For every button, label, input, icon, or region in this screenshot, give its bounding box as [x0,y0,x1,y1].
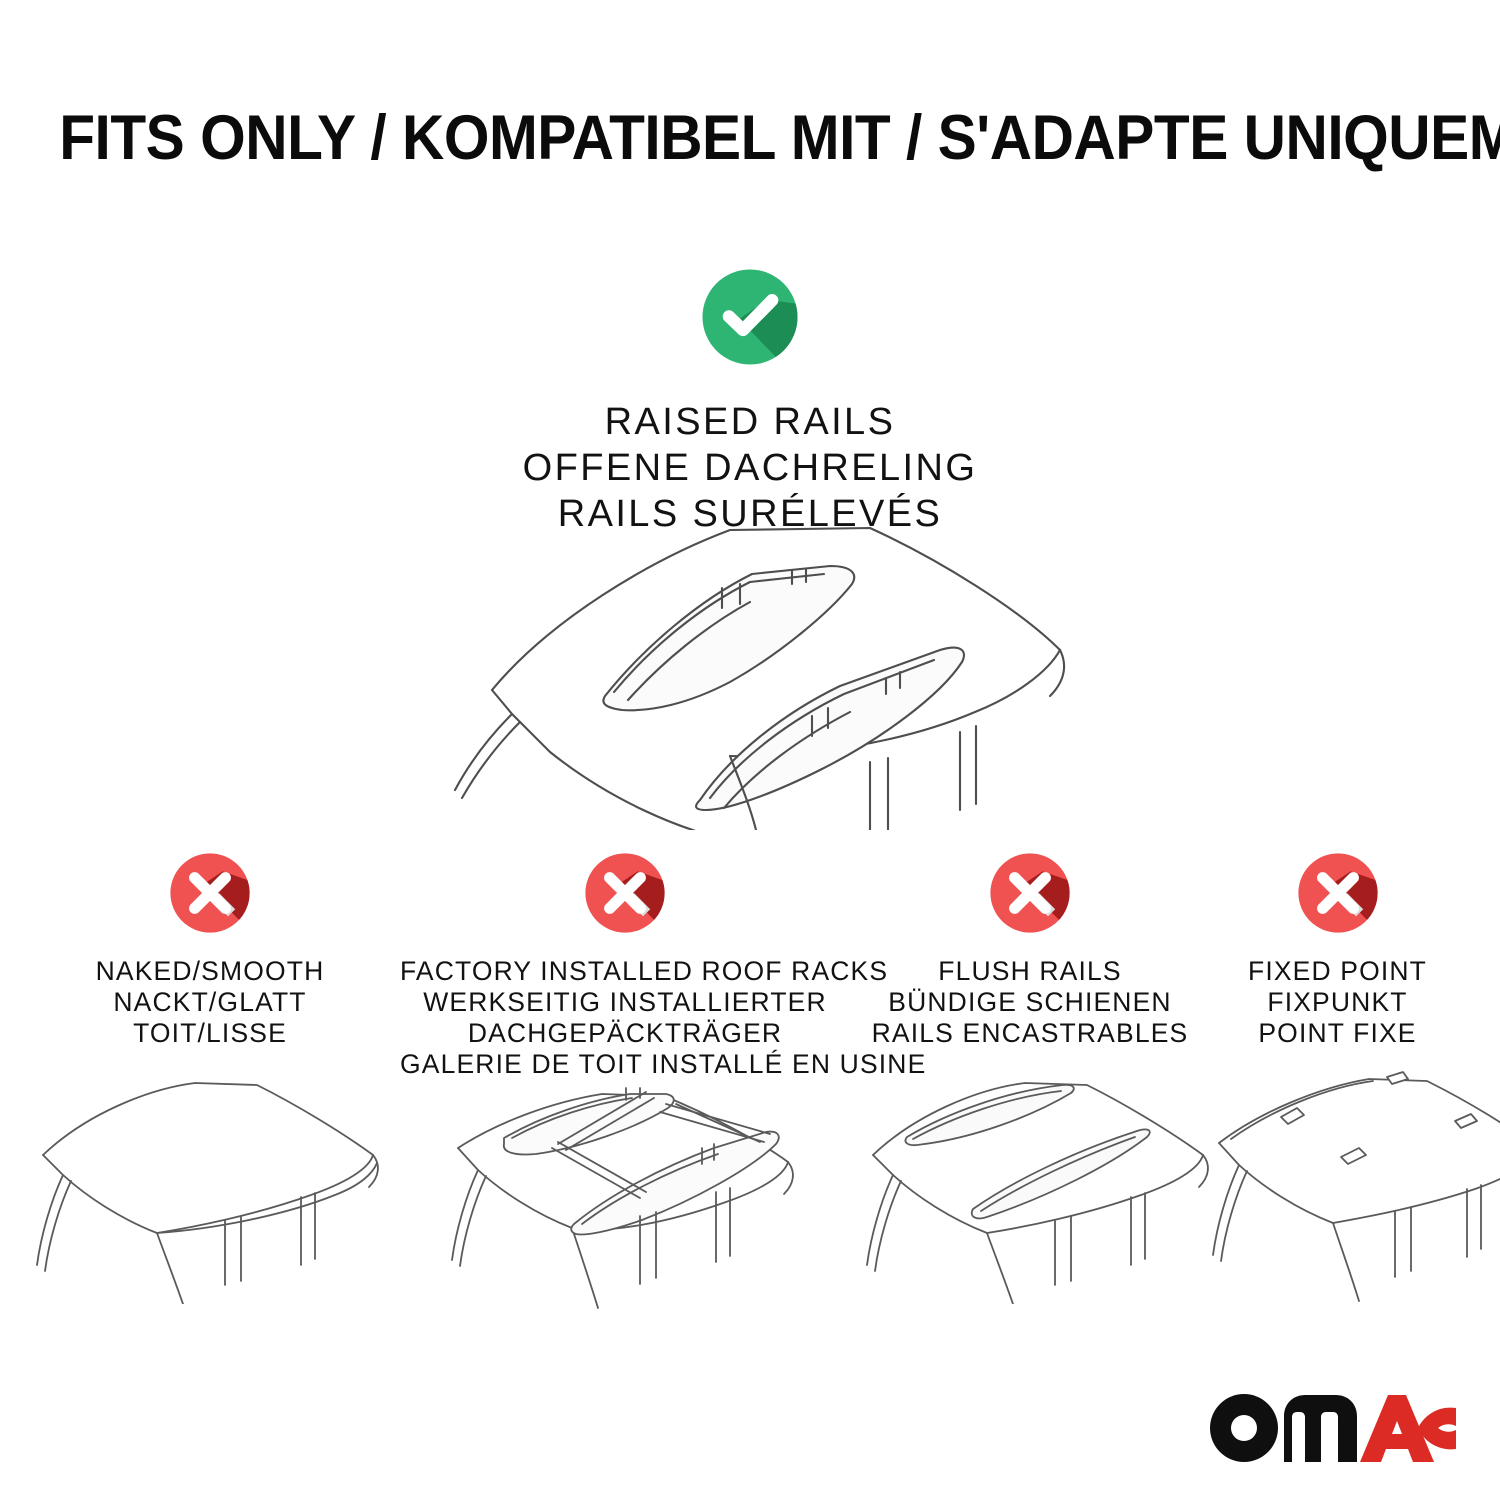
car-roof-factory-roof-racks-illustration [440,1086,810,1336]
label-fr: TOIT/LISSE [20,1018,400,1049]
label-en: FIXED POINT [1205,956,1470,987]
cross-circle-icon [1293,848,1383,938]
incompatible-column-naked-smooth: NAKED/SMOOTH NACKT/GLATT TOIT/LISSE [20,848,400,1304]
incompatible-column-factory-roof-racks: FACTORY INSTALLED ROOF RACKS WERKSEITIG … [400,848,850,1336]
incompatible-sections: NAKED/SMOOTH NACKT/GLATT TOIT/LISSE [0,848,1500,1318]
car-roof-raised-rails-illustration [400,500,1100,830]
label-en: FLUSH RAILS [855,956,1205,987]
omac-logo [1210,1392,1456,1464]
compatible-section: RAISED RAILS OFFENE DACHRELING RAILS SUR… [0,263,1500,537]
cross-circle-icon [985,848,1075,938]
label-de: FIXPUNKT [1205,987,1470,1018]
compatible-label-de: OFFENE DACHRELING [0,445,1500,491]
check-circle-icon [696,263,804,371]
car-roof-naked-smooth-illustration [25,1069,395,1304]
incompatible-labels-naked-smooth: NAKED/SMOOTH NACKT/GLATT TOIT/LISSE [20,956,400,1049]
page-title: FITS ONLY / KOMPATIBEL MIT / S'ADAPTE UN… [0,104,1500,172]
label-de: BÜNDIGE SCHIENEN [855,987,1205,1018]
car-roof-fixed-point-illustration [1205,1069,1500,1304]
label-fr: GALERIE DE TOIT INSTALLÉ EN USINE [400,1049,850,1080]
label-de: NACKT/GLATT [20,987,400,1018]
omac-logo-mark [1210,1392,1456,1464]
cross-circle-icon [580,848,670,938]
compatible-label-en: RAISED RAILS [0,399,1500,445]
label-de-2: DACHGEPÄCKTRÄGER [400,1018,850,1049]
label-en: FACTORY INSTALLED ROOF RACKS [400,956,850,987]
incompatible-labels-flush-rails: FLUSH RAILS BÜNDIGE SCHIENEN RAILS ENCAS… [855,956,1205,1049]
page-title-text: FITS ONLY / KOMPATIBEL MIT / S'ADAPTE UN… [59,104,1500,172]
incompatible-labels-factory-roof-racks: FACTORY INSTALLED ROOF RACKS WERKSEITIG … [400,956,850,1080]
label-fr: POINT FIXE [1205,1018,1470,1049]
car-roof-flush-rails-illustration [855,1069,1225,1304]
cross-circle-icon [165,848,255,938]
label-fr: RAILS ENCASTRABLES [855,1018,1205,1049]
incompatible-column-flush-rails: FLUSH RAILS BÜNDIGE SCHIENEN RAILS ENCAS… [855,848,1205,1304]
label-en: NAKED/SMOOTH [20,956,400,987]
incompatible-column-fixed-point: FIXED POINT FIXPUNKT POINT FIXE [1205,848,1470,1304]
incompatible-labels-fixed-point: FIXED POINT FIXPUNKT POINT FIXE [1205,956,1470,1049]
label-de-1: WERKSEITIG INSTALLIERTER [400,987,850,1018]
